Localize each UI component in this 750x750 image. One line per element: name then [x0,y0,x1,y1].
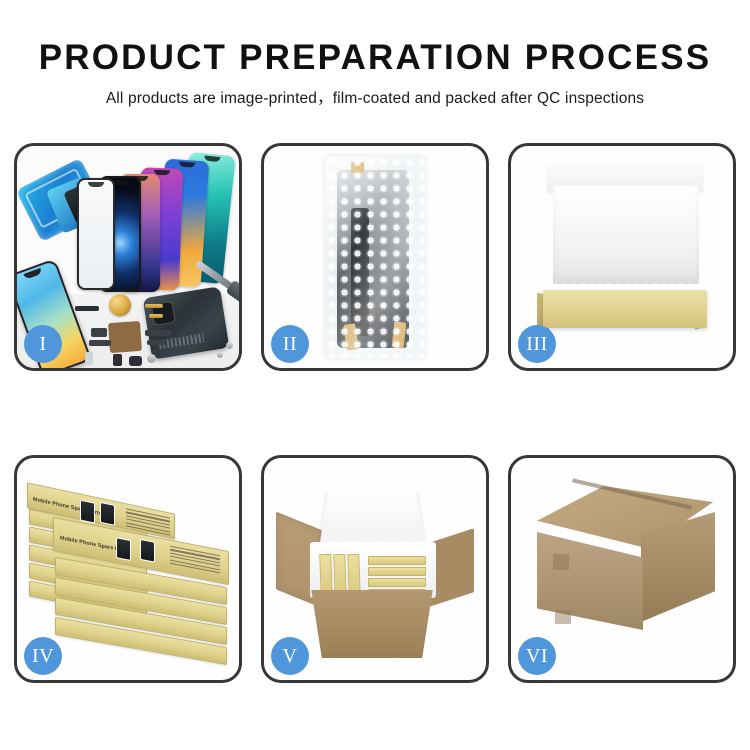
process-step-6: VI [508,455,736,683]
foam-sheet-icon [553,186,699,284]
part-icon [145,330,171,336]
part-icon [145,304,163,308]
yellow-box-body [543,290,707,328]
plastic-sheen [325,156,425,358]
page-subtitle: All products are image-printed，film-coat… [0,86,750,108]
process-step-2: II [261,143,489,371]
foam-lid-icon [320,489,425,545]
part-icon [147,340,165,345]
part-icon [113,354,122,366]
part-icon [129,356,142,366]
inner-box [368,556,426,565]
phone-screen-white-icon [77,178,115,290]
process-step-3: III [508,143,736,371]
bubble-wrap-bag [325,156,425,358]
part-icon [147,354,156,363]
carton-front-face [537,532,643,630]
carton-body [306,590,438,658]
page-title: PRODUCT PREPARATION PROCESS [0,38,750,77]
process-step-1: I [14,143,242,371]
step-badge-5: V [271,637,309,675]
label-phone-image [80,500,95,524]
notch-icon [88,182,104,187]
carton-tab [555,610,571,624]
part-icon [89,340,111,346]
part-icon [91,328,107,337]
notch-icon [23,268,42,280]
step-badge-6: VI [518,637,556,675]
gold-component-icon [109,294,131,316]
infographic-page: PRODUCT PREPARATION PROCESS All products… [0,0,750,750]
part-icon [149,314,163,318]
process-step-4: Mobile Phone Spare Parts Mobile Phone Sp… [14,455,242,683]
screw-icon [217,352,223,358]
label-spec-lines [170,546,220,576]
screw-icon [226,342,233,349]
label-phone-image [100,502,115,526]
step-badge-2: II [271,325,309,363]
part-icon [85,352,93,365]
label-phone-image [116,537,131,561]
carton-tab [553,554,569,570]
step-badge-3: III [518,325,556,363]
part-icon [75,306,99,311]
step-badge-4: IV [24,637,62,675]
inner-box [368,567,426,576]
chip-array-icon [108,321,142,353]
process-step-5: V [261,455,489,683]
header: PRODUCT PREPARATION PROCESS All products… [0,0,750,108]
process-grid: I II [14,143,736,683]
inner-box [368,578,426,587]
label-phone-image [140,539,155,563]
phone-back-housing-icon [143,286,230,359]
step-badge-1: I [24,325,62,363]
notch-icon [179,162,195,168]
notch-icon [204,156,220,163]
